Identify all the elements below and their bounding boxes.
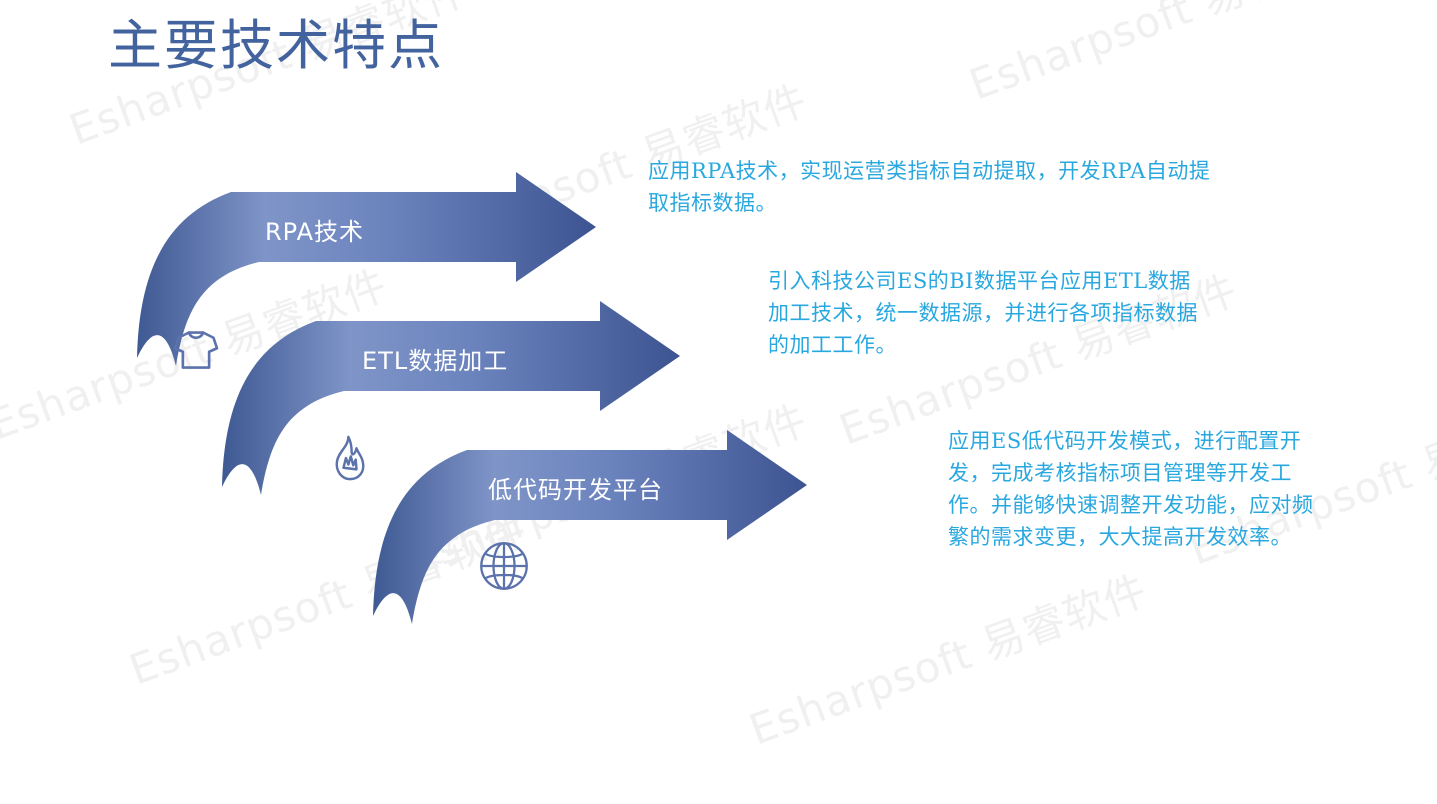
- desc-etl: 引入科技公司ES的BI数据平台应用ETL数据加工技术，统一数据源，并进行各项指标…: [768, 266, 1208, 362]
- arrow-label-etl: ETL数据加工: [362, 341, 508, 376]
- arrow-diagram: [0, 0, 1437, 804]
- globe-icon: [476, 538, 532, 599]
- page-title: 主要技术特点: [108, 15, 444, 77]
- desc-rpa: 应用RPA技术，实现运营类指标自动提取，开发RPA自动提取指标数据。: [648, 156, 1218, 220]
- flame-icon: [324, 432, 376, 489]
- arrow-lowcode[interactable]: [373, 430, 807, 624]
- tshirt-icon: [168, 322, 224, 383]
- arrow-label-rpa: RPA技术: [265, 212, 364, 247]
- desc-lowcode: 应用ES低代码开发模式，进行配置开发，完成考核指标项目管理等开发工作。并能够快速…: [948, 426, 1328, 554]
- arrow-label-lowcode: 低代码开发平台: [488, 470, 663, 505]
- slide-canvas: Esharpsoft 易睿软件Esharpsoft 易睿软件Esharpsoft…: [0, 0, 1437, 804]
